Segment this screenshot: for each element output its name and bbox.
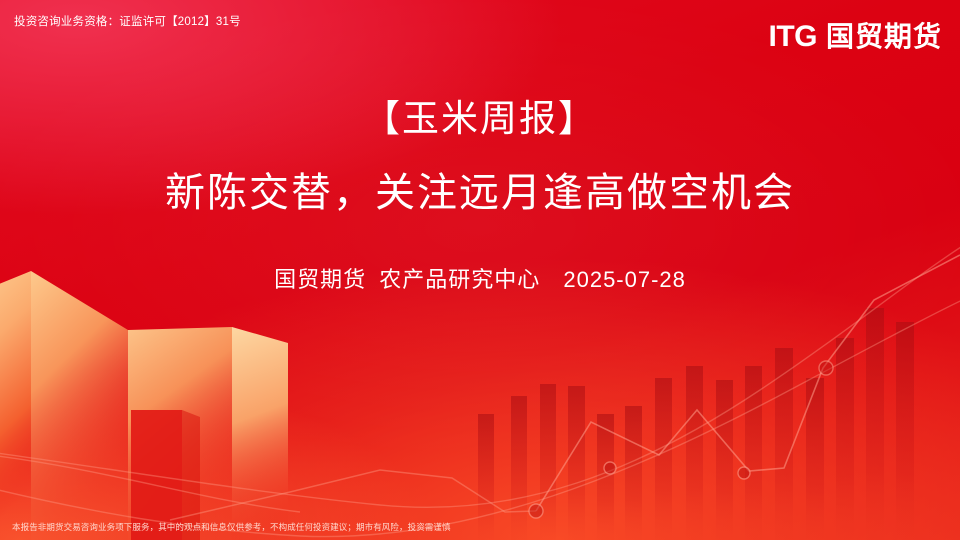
- decorative-bar-chart: [478, 308, 914, 540]
- disclaimer-text: 本报告非期货交易咨询业务项下服务，其中的观点和信息仅供参考，不构成任何投资建议；…: [12, 521, 451, 533]
- byline-department: 农产品研究中心: [379, 267, 540, 292]
- cover-text-block: 【玉米周报】 新陈交替，关注远月逢高做空机会 国贸期货 农产品研究中心 2025…: [0, 96, 960, 294]
- company-logo: ITG 国贸期货: [768, 22, 942, 52]
- report-title: 【玉米周报】: [0, 96, 960, 142]
- presentation-slide: 投资咨询业务资格：证监许可【2012】31号 ITG 国贸期货 【玉米周报】 新…: [0, 0, 960, 540]
- byline: 国贸期货 农产品研究中心 2025-07-28: [0, 262, 960, 294]
- byline-date: 2025-07-28: [563, 267, 686, 292]
- logo-company-name: 国贸期货: [826, 23, 942, 51]
- qualification-text: 投资咨询业务资格：证监许可【2012】31号: [14, 13, 241, 29]
- logo-mark-itg: ITG: [768, 22, 817, 52]
- report-subtitle: 新陈交替，关注远月逢高做空机会: [0, 168, 960, 218]
- byline-company: 国贸期货: [274, 267, 366, 292]
